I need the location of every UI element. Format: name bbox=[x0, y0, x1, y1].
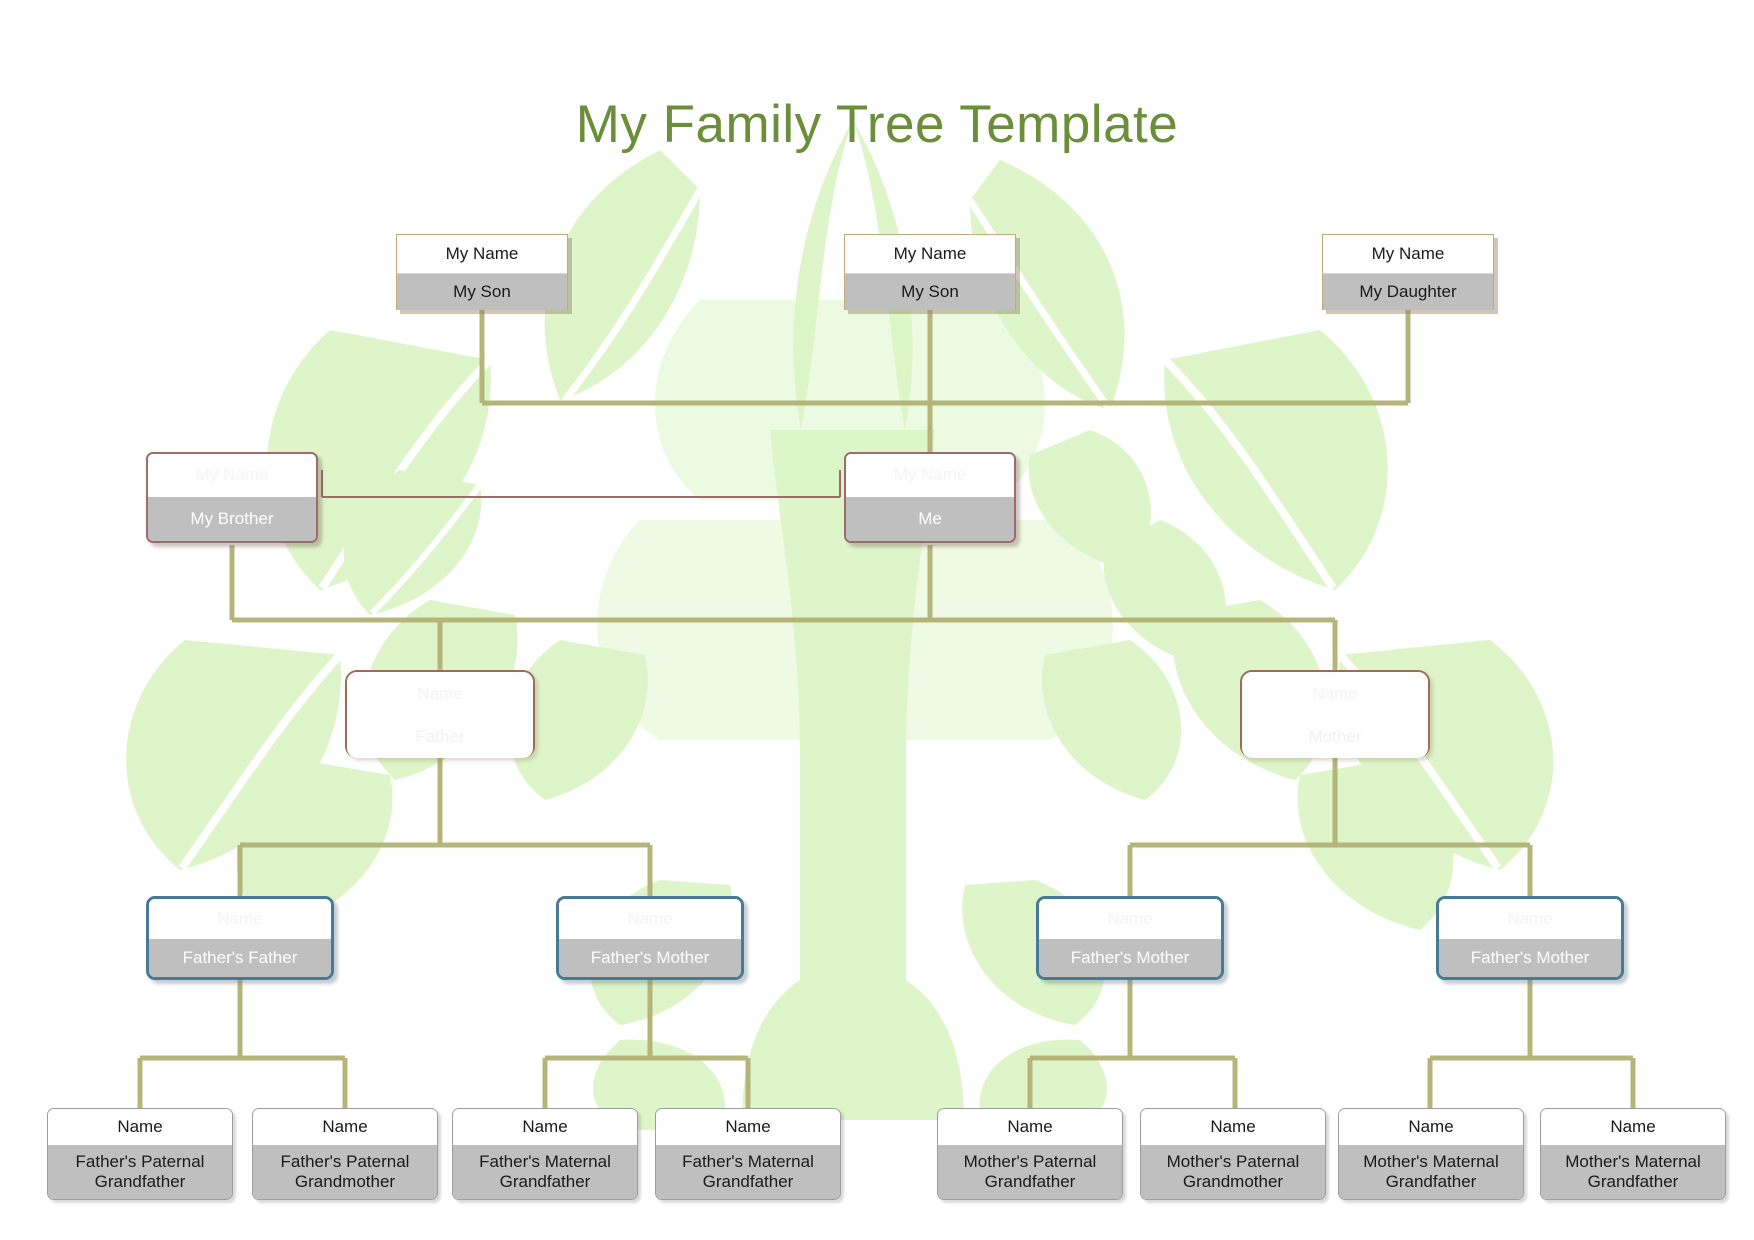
node-name-field[interactable]: Name bbox=[1439, 899, 1621, 939]
node-role-label: Father's Maternal Grandfather bbox=[656, 1145, 840, 1199]
node-name-field[interactable]: Name bbox=[1141, 1109, 1325, 1145]
node-mother[interactable]: Name Mother bbox=[1240, 670, 1430, 758]
node-role-label: My Son bbox=[397, 273, 567, 310]
node-name-field[interactable]: Name bbox=[559, 899, 741, 939]
page-title: My Family Tree Template bbox=[0, 94, 1754, 155]
node-name-field[interactable]: Name bbox=[938, 1109, 1122, 1145]
node-great-grandparent-4[interactable]: Name Father's Maternal Grandfather bbox=[655, 1108, 841, 1200]
node-father[interactable]: Name Father bbox=[345, 670, 535, 758]
node-name-field[interactable]: My Name bbox=[1323, 235, 1493, 273]
node-name-field[interactable]: Name bbox=[1242, 672, 1428, 716]
node-grandparent-3[interactable]: Name Father's Mother bbox=[1036, 896, 1224, 980]
node-grandparent-4[interactable]: Name Father's Mother bbox=[1436, 896, 1624, 980]
node-my-brother[interactable]: My Name My Brother bbox=[146, 452, 318, 543]
node-me[interactable]: My Name Me bbox=[844, 452, 1016, 543]
node-role-label: My Daughter bbox=[1323, 273, 1493, 310]
node-great-grandparent-5[interactable]: Name Mother's Paternal Grandfather bbox=[937, 1108, 1123, 1200]
node-role-label: Me bbox=[846, 497, 1014, 541]
node-grandparent-2[interactable]: Name Father's Mother bbox=[556, 896, 744, 980]
node-name-field[interactable]: My Name bbox=[397, 235, 567, 273]
node-name-field[interactable]: My Name bbox=[148, 454, 316, 497]
node-great-grandparent-6[interactable]: Name Mother's Paternal Grandmother bbox=[1140, 1108, 1326, 1200]
node-name-field[interactable]: Name bbox=[1541, 1109, 1725, 1145]
node-role-label: Father's Maternal Grandfather bbox=[453, 1145, 637, 1199]
node-child-2[interactable]: My Name My Son bbox=[844, 234, 1016, 310]
node-role-label: Mother's Paternal Grandfather bbox=[938, 1145, 1122, 1199]
node-great-grandparent-8[interactable]: Name Mother's Maternal Grandfather bbox=[1540, 1108, 1726, 1200]
node-name-field[interactable]: My Name bbox=[845, 235, 1015, 273]
node-child-1[interactable]: My Name My Son bbox=[396, 234, 568, 310]
node-role-label: Father's Father bbox=[149, 939, 331, 977]
node-name-field[interactable]: Name bbox=[149, 899, 331, 939]
node-role-label: Father bbox=[347, 716, 533, 758]
node-role-label: Father's Mother bbox=[1039, 939, 1221, 977]
node-name-field[interactable]: Name bbox=[1339, 1109, 1523, 1145]
node-role-label: My Brother bbox=[148, 497, 316, 541]
node-great-grandparent-3[interactable]: Name Father's Maternal Grandfather bbox=[452, 1108, 638, 1200]
node-name-field[interactable]: Name bbox=[1039, 899, 1221, 939]
node-role-label: Mother's Maternal Grandfather bbox=[1541, 1145, 1725, 1199]
node-child-3[interactable]: My Name My Daughter bbox=[1322, 234, 1494, 310]
node-name-field[interactable]: Name bbox=[48, 1109, 232, 1145]
node-grandparent-1[interactable]: Name Father's Father bbox=[146, 896, 334, 980]
node-name-field[interactable]: Name bbox=[253, 1109, 437, 1145]
node-role-label: My Son bbox=[845, 273, 1015, 310]
node-role-label: Father's Mother bbox=[1439, 939, 1621, 977]
node-role-label: Mother bbox=[1242, 716, 1428, 758]
node-great-grandparent-2[interactable]: Name Father's Paternal Grandmother bbox=[252, 1108, 438, 1200]
node-great-grandparent-7[interactable]: Name Mother's Maternal Grandfather bbox=[1338, 1108, 1524, 1200]
node-role-label: Father's Mother bbox=[559, 939, 741, 977]
node-role-label: Mother's Maternal Grandfather bbox=[1339, 1145, 1523, 1199]
node-role-label: Mother's Paternal Grandmother bbox=[1141, 1145, 1325, 1199]
node-role-label: Father's Paternal Grandfather bbox=[48, 1145, 232, 1199]
node-great-grandparent-1[interactable]: Name Father's Paternal Grandfather bbox=[47, 1108, 233, 1200]
node-name-field[interactable]: Name bbox=[656, 1109, 840, 1145]
connector-lines bbox=[0, 0, 1754, 1240]
node-name-field[interactable]: Name bbox=[347, 672, 533, 716]
node-name-field[interactable]: My Name bbox=[846, 454, 1014, 497]
node-name-field[interactable]: Name bbox=[453, 1109, 637, 1145]
node-role-label: Father's Paternal Grandmother bbox=[253, 1145, 437, 1199]
